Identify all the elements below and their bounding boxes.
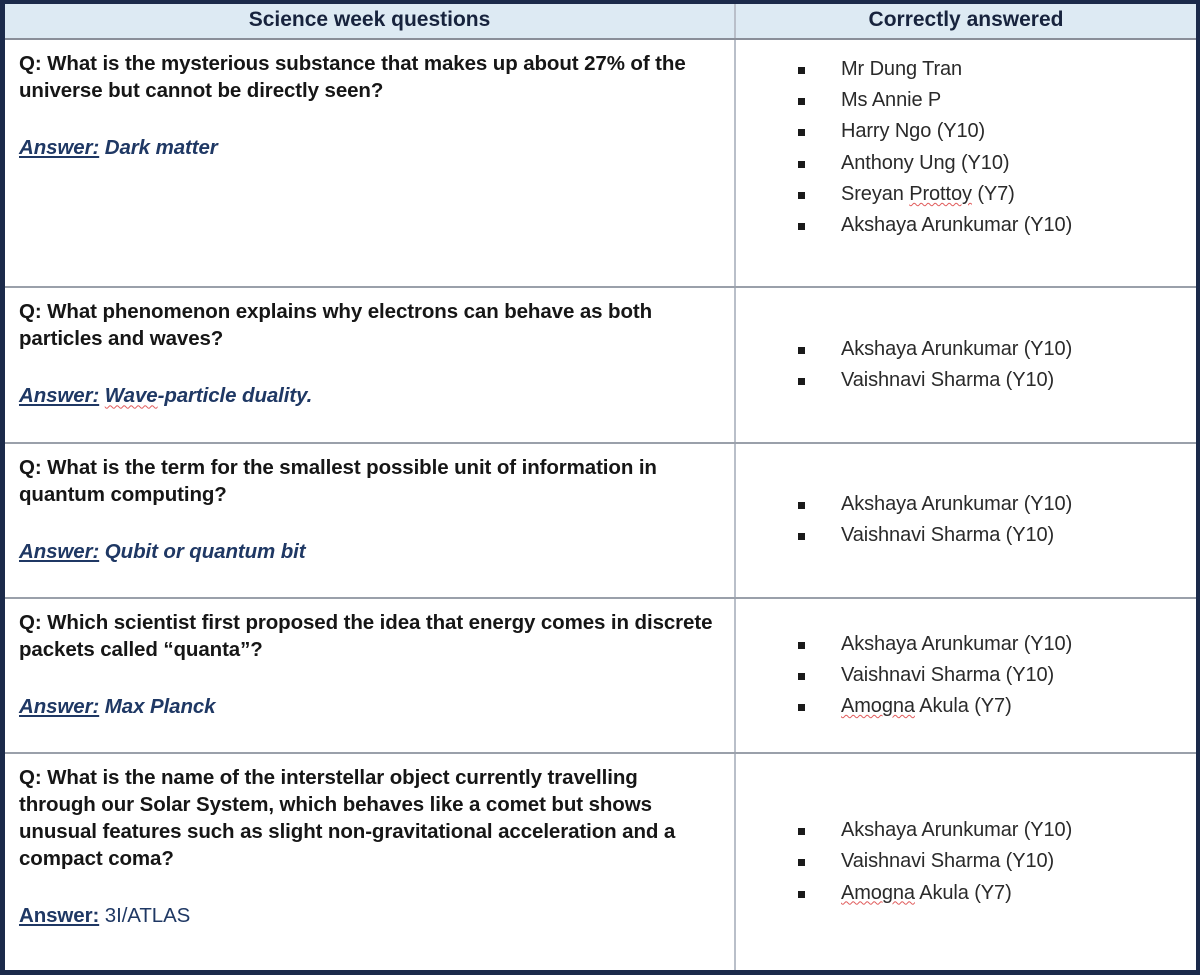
table-header-row: Science week questions Correctly answere… <box>5 4 1196 39</box>
correct-answer-name-list: Mr Dung TranMs Annie PHarry Ngo (Y10)Ant… <box>736 54 1196 241</box>
answer-value: Max Planck <box>105 695 216 718</box>
answer-line: Answer: Max Planck <box>19 693 718 720</box>
names-wrapper: Akshaya Arunkumar (Y10)Vaishnavi Sharma … <box>736 609 1196 742</box>
list-item: Ms Annie P <box>736 85 1196 116</box>
spellcheck-underlined-word: Prottoy <box>909 183 972 205</box>
list-item: Akshaya Arunkumar (Y10) <box>736 815 1072 846</box>
list-item: Anthony Ung (Y10) <box>736 148 1196 179</box>
correct-answers-cell: Akshaya Arunkumar (Y10)Vaishnavi Sharma … <box>735 287 1196 442</box>
question-text: Q: What is the name of the interstellar … <box>19 764 718 872</box>
list-item: Vaishnavi Sharma (Y10) <box>736 846 1072 877</box>
table-row: Q: What is the term for the smallest pos… <box>5 443 1196 598</box>
table-row: Q: What is the mysterious substance that… <box>5 39 1196 287</box>
names-wrapper: Akshaya Arunkumar (Y10)Vaishnavi Sharma … <box>736 298 1196 431</box>
list-item: Akshaya Arunkumar (Y10) <box>736 629 1072 660</box>
spellcheck-underlined-word: Amogna <box>841 695 915 717</box>
spellcheck-underlined-word: Amogna <box>841 882 915 904</box>
list-item: Vaishnavi Sharma (Y10) <box>736 365 1072 396</box>
question-text: Q: Which scientist first proposed the id… <box>19 609 718 663</box>
column-header-questions: Science week questions <box>5 4 735 39</box>
science-week-table: Science week questions Correctly answere… <box>5 4 1196 970</box>
answer-value: 3I/ATLAS <box>105 904 190 927</box>
question-cell: Q: What phenomenon explains why electron… <box>5 287 735 442</box>
question-cell: Q: What is the name of the interstellar … <box>5 753 735 970</box>
list-item: Akshaya Arunkumar (Y10) <box>736 210 1196 241</box>
table-row: Q: What phenomenon explains why electron… <box>5 287 1196 442</box>
correct-answers-cell: Akshaya Arunkumar (Y10)Vaishnavi Sharma … <box>735 598 1196 753</box>
names-wrapper: Akshaya Arunkumar (Y10)Vaishnavi Sharma … <box>736 764 1196 960</box>
question-text: Q: What is the mysterious substance that… <box>19 50 718 104</box>
list-item: Vaishnavi Sharma (Y10) <box>736 520 1072 551</box>
answer-line: Answer: 3I/ATLAS <box>19 902 718 929</box>
list-item: Amogna Akula (Y7) <box>736 691 1072 722</box>
science-week-table-frame: Science week questions Correctly answere… <box>0 0 1200 975</box>
list-item: Amogna Akula (Y7) <box>736 878 1072 909</box>
question-text: Q: What is the term for the smallest pos… <box>19 454 718 508</box>
answer-line: Answer: Wave-particle duality. <box>19 382 718 409</box>
names-wrapper: Akshaya Arunkumar (Y10)Vaishnavi Sharma … <box>736 454 1196 587</box>
correct-answer-name-list: Akshaya Arunkumar (Y10)Vaishnavi Sharma … <box>736 629 1072 723</box>
answer-value: Dark matter <box>105 136 218 159</box>
question-cell: Q: What is the mysterious substance that… <box>5 39 735 287</box>
answer-value: Qubit or quantum bit <box>105 540 306 563</box>
table-body: Q: What is the mysterious substance that… <box>5 39 1196 970</box>
question-cell: Q: Which scientist first proposed the id… <box>5 598 735 753</box>
question-text: Q: What phenomenon explains why electron… <box>19 298 718 352</box>
answer-label: Answer: <box>19 904 99 927</box>
answer-line: Answer: Dark matter <box>19 134 718 161</box>
table-row: Q: What is the name of the interstellar … <box>5 753 1196 970</box>
correct-answer-name-list: Akshaya Arunkumar (Y10)Vaishnavi Sharma … <box>736 489 1072 551</box>
answer-label: Answer: <box>19 384 99 407</box>
column-header-correctly-answered: Correctly answered <box>735 4 1196 39</box>
list-item: Vaishnavi Sharma (Y10) <box>736 660 1072 691</box>
list-item: Mr Dung Tran <box>736 54 1196 85</box>
answer-label: Answer: <box>19 695 99 718</box>
answer-line: Answer: Qubit or quantum bit <box>19 538 718 565</box>
list-item: Sreyan Prottoy (Y7) <box>736 179 1196 210</box>
spellcheck-underlined-word: Wave <box>105 384 158 407</box>
answer-value: Wave-particle duality. <box>105 384 312 407</box>
list-item: Akshaya Arunkumar (Y10) <box>736 489 1072 520</box>
answer-label: Answer: <box>19 540 99 563</box>
list-item: Akshaya Arunkumar (Y10) <box>736 334 1072 365</box>
list-item: Harry Ngo (Y10) <box>736 116 1196 147</box>
correct-answers-cell: Akshaya Arunkumar (Y10)Vaishnavi Sharma … <box>735 753 1196 970</box>
correct-answers-cell: Akshaya Arunkumar (Y10)Vaishnavi Sharma … <box>735 443 1196 598</box>
correct-answer-name-list: Akshaya Arunkumar (Y10)Vaishnavi Sharma … <box>736 815 1072 909</box>
table-row: Q: Which scientist first proposed the id… <box>5 598 1196 753</box>
table-header: Science week questions Correctly answere… <box>5 4 1196 39</box>
names-wrapper: Mr Dung TranMs Annie PHarry Ngo (Y10)Ant… <box>736 54 1196 241</box>
correct-answer-name-list: Akshaya Arunkumar (Y10)Vaishnavi Sharma … <box>736 334 1072 396</box>
answer-label: Answer: <box>19 136 99 159</box>
question-cell: Q: What is the term for the smallest pos… <box>5 443 735 598</box>
correct-answers-cell: Mr Dung TranMs Annie PHarry Ngo (Y10)Ant… <box>735 39 1196 287</box>
